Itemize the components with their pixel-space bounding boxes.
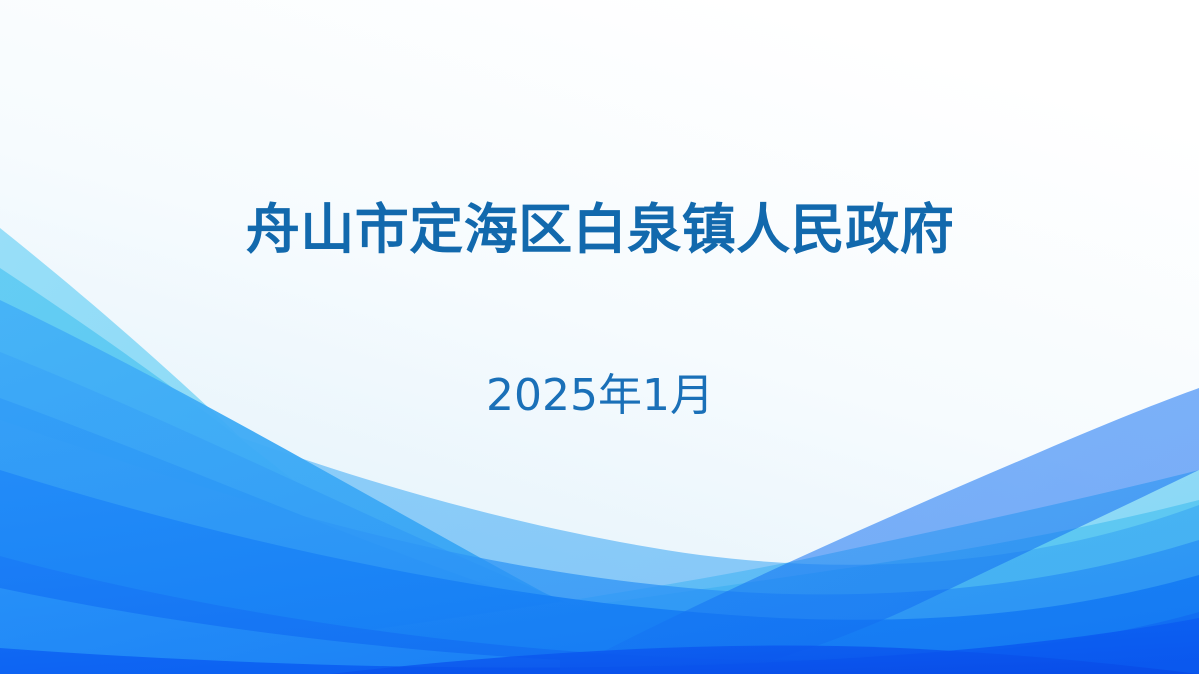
title-slide: 舟山市定海区白泉镇人民政府 2025年1月: [0, 0, 1199, 674]
decorative-wave-background: [0, 0, 1199, 674]
